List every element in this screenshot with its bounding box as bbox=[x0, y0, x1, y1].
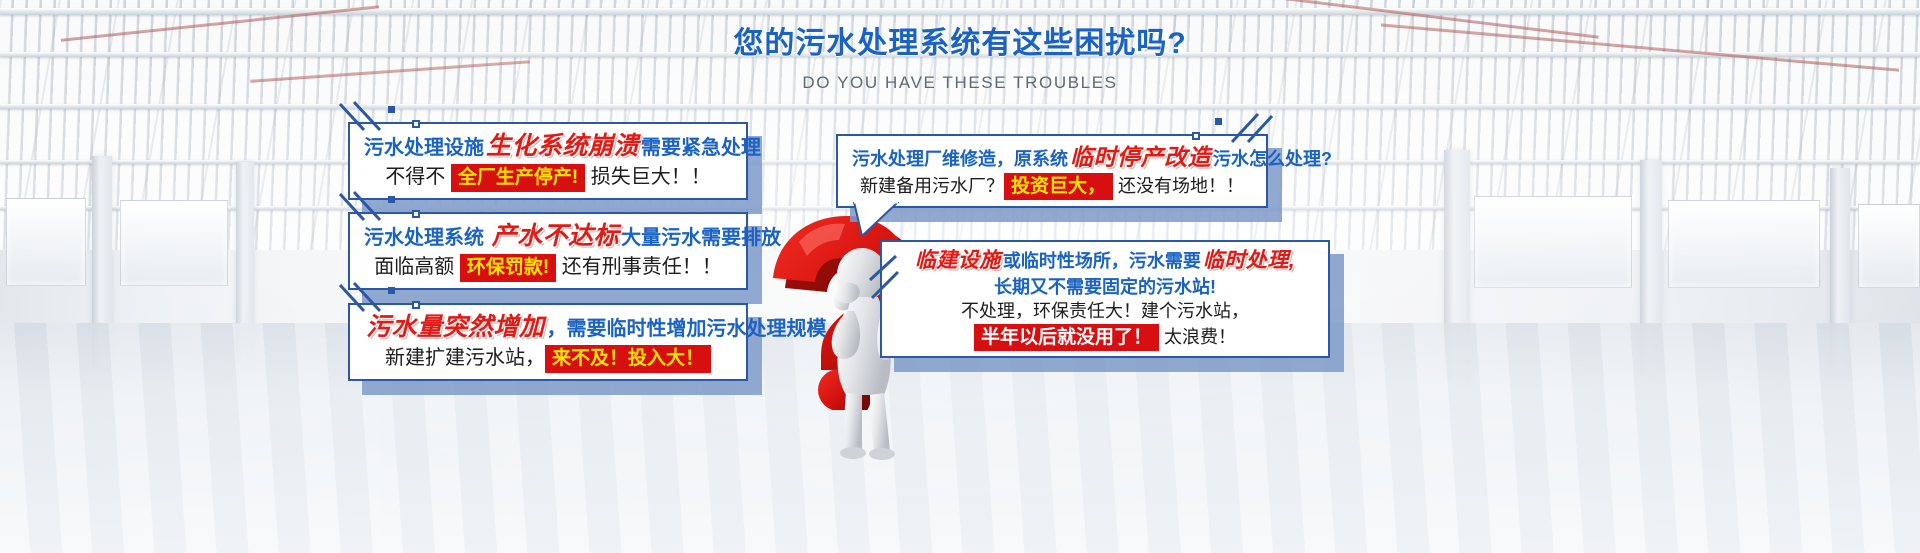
text-run: 不处理，环保责任大！建个污水站， bbox=[961, 301, 1249, 321]
text-run: 污水处理系统 bbox=[364, 227, 490, 249]
text-run: 还没有场地！！ bbox=[1113, 176, 1244, 196]
callout-panel: 污水处理设施生化系统崩溃需要紧急处理 不得不 全厂生产停产! 损失巨大！！ bbox=[348, 122, 748, 200]
callout-line-2: 新建备用污水厂？投资巨大， 还没有场地！！ bbox=[852, 173, 1252, 201]
callout-sudden-volume-increase: 污水量突然增加，需要临时性增加污水处理规模 新建扩建污水站，来不及！投入大！ bbox=[348, 303, 748, 381]
text-run: 全厂生产停产! bbox=[451, 164, 585, 192]
page-header: 您的污水处理系统有这些困扰吗? DO YOU HAVE THESE TROUBL… bbox=[0, 18, 1920, 93]
text-run: 面临高额 bbox=[374, 256, 460, 278]
text-run: 投资巨大， bbox=[1004, 173, 1113, 201]
text-run: 需要紧急处理 bbox=[641, 137, 761, 159]
callout-line-1: 污水处理设施生化系统崩溃需要紧急处理 bbox=[364, 130, 732, 164]
callout-effluent-substandard: 污水处理系统 产水不达标大量污水需要排放 面临高额 环保罚款! 还有刑事责任！！ bbox=[348, 212, 748, 290]
corner-square-hollow bbox=[412, 301, 420, 309]
text-run: 污水处理设施 bbox=[364, 137, 484, 159]
callout-line-1: 临建设施或临时性场所，污水需要临时处理, bbox=[898, 247, 1312, 275]
corner-square-solid bbox=[388, 287, 395, 294]
text-run: 产水不达标 bbox=[490, 222, 622, 250]
text-run: 太浪费！ bbox=[1159, 327, 1236, 347]
text-run: 临建设施 bbox=[913, 249, 1003, 272]
text-run: 或临时性场所，污水需要 bbox=[1003, 251, 1201, 271]
text-run: 污水量突然增加 bbox=[364, 313, 547, 341]
callout-line-2: 面临高额 环保罚款! 还有刑事责任！！ bbox=[364, 254, 732, 282]
text-run: 损失巨大！！ bbox=[585, 166, 711, 188]
callout-panel: 污水处理厂维修造，原系统临时停产改造污水怎么处理? 新建备用污水厂？投资巨大， … bbox=[836, 134, 1268, 208]
callout-panel: 临建设施或临时性场所，污水需要临时处理, 长期又不需要固定的污水站! 不处理，环… bbox=[880, 240, 1330, 358]
callout-bio-system-collapse: 污水处理设施生化系统崩溃需要紧急处理 不得不 全厂生产停产! 损失巨大！！ bbox=[348, 122, 748, 200]
text-run: 新建备用污水厂？ bbox=[860, 176, 1004, 196]
text-run: 生化系统崩溃 bbox=[484, 132, 641, 160]
callout-line-4: 半年以后就没用了！ 太浪费！ bbox=[898, 324, 1312, 352]
corner-square-solid bbox=[1215, 118, 1222, 125]
text-run: 长期又不需要固定的污水站! bbox=[994, 277, 1216, 297]
corner-square-hollow bbox=[1192, 132, 1200, 140]
text-run: 临时处理, bbox=[1201, 249, 1297, 272]
text-run: ，需要临时性增加污水处理规模 bbox=[547, 318, 827, 340]
callout-line-1: 污水量突然增加，需要临时性增加污水处理规模 bbox=[364, 311, 732, 345]
text-run: 污水怎么处理? bbox=[1213, 149, 1332, 169]
callout-temporary-facility: 临建设施或临时性场所，污水需要临时处理, 长期又不需要固定的污水站! 不处理，环… bbox=[880, 240, 1330, 358]
callout-panel: 污水处理系统 产水不达标大量污水需要排放 面临高额 环保罚款! 还有刑事责任！！ bbox=[348, 212, 748, 290]
page-subtitle: DO YOU HAVE THESE TROUBLES bbox=[0, 73, 1920, 93]
text-run: 来不及！投入大！ bbox=[545, 345, 711, 373]
text-run: 不得不 bbox=[385, 166, 451, 188]
callout-line-2: 长期又不需要固定的污水站! bbox=[898, 275, 1312, 299]
page-title: 您的污水处理系统有这些困扰吗? bbox=[0, 18, 1920, 62]
callout-plant-maintenance-shutdown: 污水处理厂维修造，原系统临时停产改造污水怎么处理? 新建备用污水厂？投资巨大， … bbox=[836, 134, 1268, 208]
callout-panel: 污水量突然增加，需要临时性增加污水处理规模 新建扩建污水站，来不及！投入大！ bbox=[348, 303, 748, 381]
callout-line-3: 不处理，环保责任大！建个污水站， bbox=[898, 299, 1312, 323]
corner-square-hollow bbox=[412, 120, 420, 128]
speech-bubble-tail bbox=[852, 202, 912, 236]
text-run: 临时停产改造 bbox=[1068, 144, 1213, 170]
callout-line-2: 新建扩建污水站，来不及！投入大！ bbox=[364, 345, 732, 373]
text-run: 环保罚款! bbox=[460, 254, 556, 282]
text-run: 还有刑事责任！！ bbox=[556, 256, 722, 278]
text-run: 半年以后就没用了！ bbox=[974, 324, 1159, 352]
text-run: 新建扩建污水站， bbox=[385, 347, 545, 369]
callout-line-1: 污水处理厂维修造，原系统临时停产改造污水怎么处理? bbox=[852, 142, 1252, 173]
text-run: 大量污水需要排放 bbox=[621, 227, 781, 249]
text-run: 污水处理厂维修造，原系统 bbox=[852, 149, 1068, 169]
callout-line-1: 污水处理系统 产水不达标大量污水需要排放 bbox=[364, 220, 732, 254]
corner-square-hollow bbox=[412, 210, 420, 218]
corner-square-solid bbox=[388, 196, 395, 203]
callout-line-2: 不得不 全厂生产停产! 损失巨大！！ bbox=[364, 164, 732, 192]
corner-square-solid bbox=[388, 106, 395, 113]
